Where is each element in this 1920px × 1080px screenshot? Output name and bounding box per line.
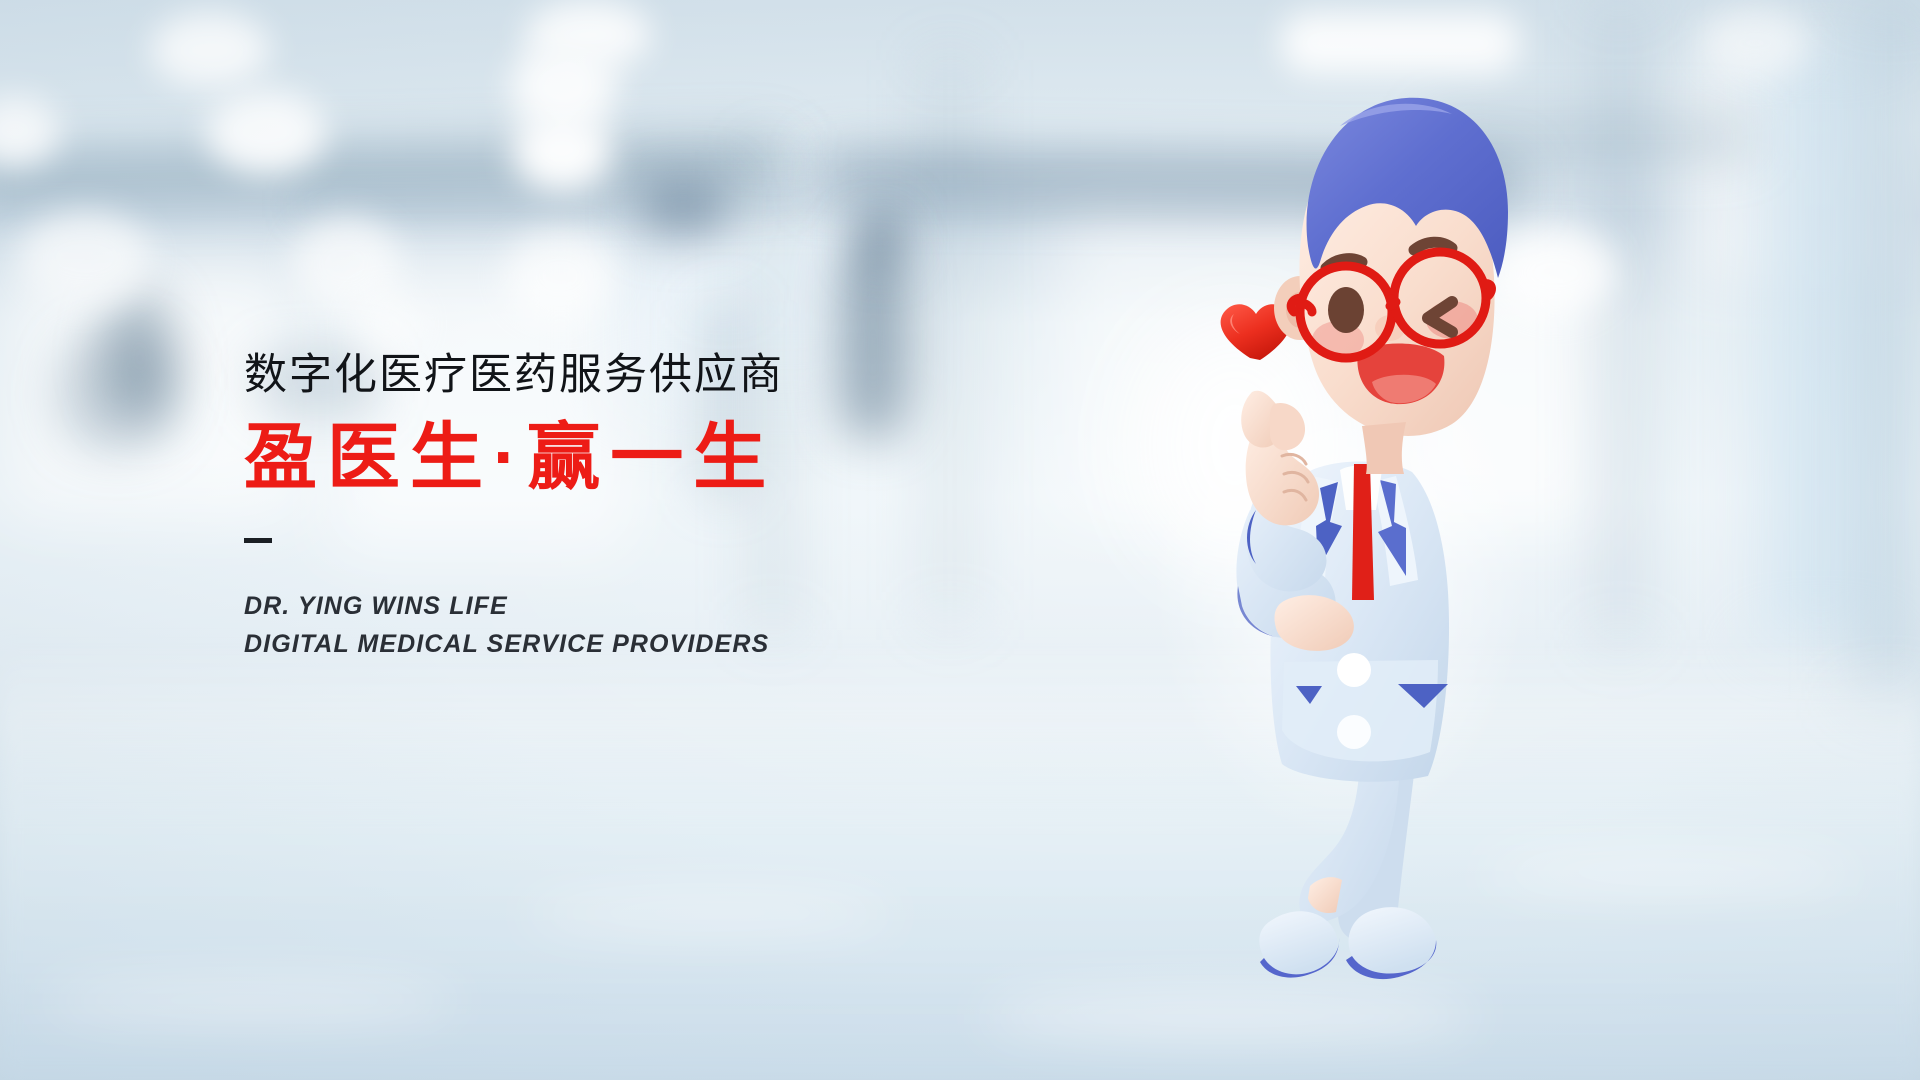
coat-button: [1337, 715, 1371, 749]
hero-tagline-line1: DR. YING WINS LIFE: [244, 587, 964, 625]
eye-open: [1328, 287, 1364, 333]
hero-subheadline: 数字化医疗医药服务供应商: [244, 354, 964, 397]
hero-banner: 数字化医疗医药服务供应商 盈医生·赢一生 DR. YING WINS LIFE …: [0, 0, 1920, 1080]
neck: [1362, 422, 1406, 474]
coat-button: [1337, 653, 1371, 687]
doctor-mascot: [1190, 40, 1670, 1040]
hero-headline: 盈医生·赢一生: [244, 421, 964, 494]
hero-tagline-en: DR. YING WINS LIFE DIGITAL MEDICAL SERVI…: [244, 587, 964, 663]
hero-text-block: 数字化医疗医药服务供应商 盈医生·赢一生 DR. YING WINS LIFE …: [244, 354, 964, 663]
hero-divider: [244, 538, 272, 543]
hero-tagline-line2: DIGITAL MEDICAL SERVICE PROVIDERS: [244, 625, 964, 663]
